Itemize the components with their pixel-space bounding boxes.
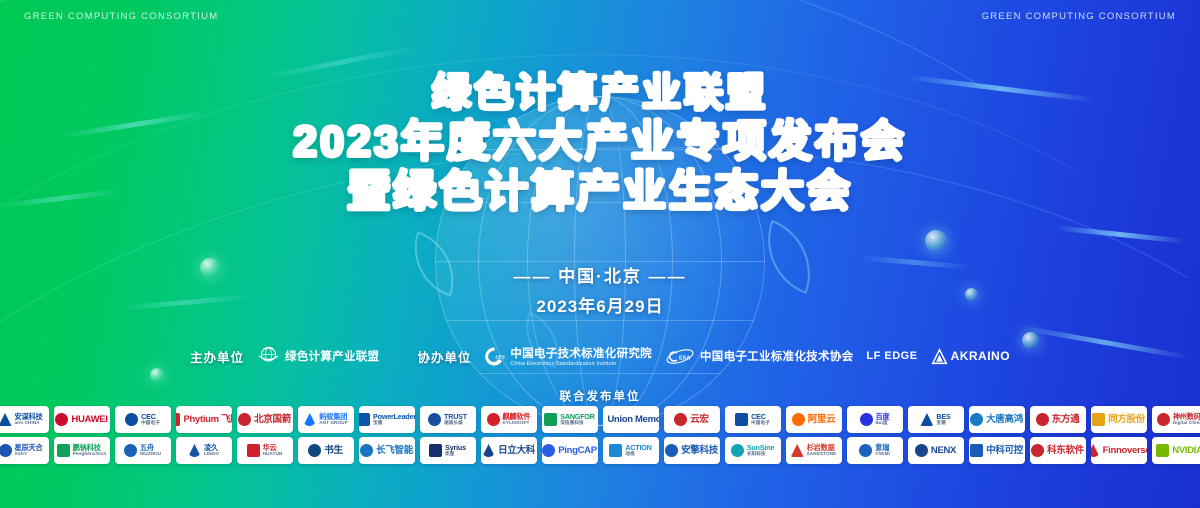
sponsor-name-secondary: 宝德 <box>373 421 414 426</box>
event-title: 绿色计算产业联盟 2023年度六大产业专项发布会 暨绿色计算产业生态大会 <box>0 72 1200 216</box>
sponsor-mark-icon <box>303 413 316 426</box>
sponsor-logo[interactable]: 云宏 <box>664 406 720 433</box>
kicker-left: GREEN COMPUTING CONSORTIUM <box>24 11 218 22</box>
sponsor-mark-icon <box>665 444 678 457</box>
sponsor-logo[interactable]: PingCAP <box>542 437 598 464</box>
sponsor-logo[interactable]: CEC中国电子 <box>115 406 171 433</box>
sponsor-mark-icon <box>1036 413 1049 426</box>
sponsor-mark-icon <box>791 444 804 457</box>
sponsor-mark-icon <box>0 413 12 426</box>
sponsor-logo[interactable]: CEC中国电子 <box>725 406 781 433</box>
coorganizer-logo-cesi: CESI 中国电子技术标准化研究院 China Electronics Stan… <box>484 345 652 367</box>
sponsor-name-primary: 大唐高鸿 <box>986 415 1023 425</box>
sponsor-mark-icon <box>487 413 500 426</box>
sponsor-mark-icon <box>860 413 873 426</box>
sponsor-mark-icon <box>674 413 687 426</box>
coorganizer-label: 协办单位 <box>417 347 471 366</box>
sponsor-logo[interactable]: 东方通 <box>1030 406 1086 433</box>
sponsor-logo[interactable]: SunSine长阳科技 <box>725 437 781 464</box>
sponsor-name-primary: 安擎科技 <box>681 446 718 456</box>
sponsor-mark-icon <box>1091 444 1100 457</box>
sponsor-logo[interactable]: BES宝德 <box>908 406 964 433</box>
sponsor-mark-icon <box>603 413 605 426</box>
sponsor-mark-icon <box>920 413 933 426</box>
sponsor-name-primary: NVIDIA <box>1172 446 1200 456</box>
sponsor-mark-icon <box>429 444 442 457</box>
joint-publishers-row: 安谋科技arm CHINAHUAWEICEC中国电子Phytium 飞腾北京国箭… <box>58 406 1142 433</box>
sponsor-logo[interactable]: Union Memory <box>603 406 659 433</box>
sponsor-mark-icon <box>57 444 70 457</box>
sponsor-name-secondary: WUZHOU <box>140 452 161 457</box>
sponsor-mark-icon <box>1092 413 1105 426</box>
esa-name: 中国电子工业标准化技术协会 <box>700 348 853 364</box>
svg-text:CESI: CESI <box>496 354 506 359</box>
joint-publishers-title: 联合发布单位 <box>0 388 1200 404</box>
sponsor-name-primary: 同方股份 <box>1108 415 1145 425</box>
svg-text:ESA: ESA <box>679 355 690 361</box>
sponsor-logo[interactable]: 科东软件 <box>1030 437 1086 464</box>
sponsor-logo[interactable]: 凌久LINGO <box>176 437 232 464</box>
sponsor-mark-icon <box>308 444 321 457</box>
sponsor-name-primary: 东方通 <box>1052 415 1080 425</box>
lf-edge-icon: LF EDGE <box>866 351 917 361</box>
akraino-name: AKRAINO <box>951 349 1011 363</box>
coorganizer-logo-akraino: AKRAINO <box>931 348 1011 365</box>
sponsor-logo[interactable]: 神州数码Digital China <box>1152 406 1200 433</box>
sponsor-name-primary: 中科可控 <box>986 446 1023 456</box>
event-subtitle: —— 中国·北京 —— 2023年6月29日 <box>0 262 1200 317</box>
sponsor-name-secondary: SANDSTONE <box>807 452 837 457</box>
sponsor-mark-icon <box>125 413 138 426</box>
sponsor-logo[interactable]: 书生 <box>298 437 354 464</box>
sponsor-mark-icon <box>542 444 555 457</box>
cesi-name: 中国电子技术标准化研究院 China Electronics Standardi… <box>510 345 652 367</box>
sponsor-name-secondary: 深信服科技 <box>560 421 595 426</box>
coorganizer-logo-esa: ESA 中国电子工业标准化技术协会 <box>665 348 853 365</box>
sponsor-mark-icon <box>859 444 872 457</box>
host-logo-opengcc: 绿色计算产业联盟 <box>257 346 379 367</box>
sponsor-name-primary: Finnoverse <box>1103 446 1147 456</box>
sponsor-logo[interactable]: 大唐高鸿 <box>969 406 1025 433</box>
sponsor-mark-icon <box>970 444 983 457</box>
sponsor-logo[interactable]: 北京国箭 <box>237 406 293 433</box>
coorganizer-logo-lfedge: LF EDGE <box>866 351 917 361</box>
sponsor-logo[interactable]: 长飞智能 <box>359 437 415 464</box>
sponsor-logo[interactable]: Phytium 飞腾 <box>176 406 232 433</box>
sponsor-name-primary: 云宏 <box>690 415 708 425</box>
sponsor-logo[interactable]: 同方股份 <box>1091 406 1147 433</box>
sponsor-mark-icon <box>482 444 495 457</box>
sponsor-name-secondary: 长阳科技 <box>747 452 774 457</box>
sponsor-name-primary: 书生 <box>324 446 342 456</box>
sponsor-name-secondary: XSKY <box>15 452 43 457</box>
sponsor-name-primary: 日立大科 <box>498 446 535 456</box>
sponsor-name-primary: 科东软件 <box>1047 446 1084 456</box>
sponsor-logo[interactable]: 日立大科 <box>481 437 537 464</box>
sponsor-name-secondary: 宝德 <box>936 421 950 426</box>
joint-publishers-grid: 安谋科技arm CHINAHUAWEICEC中国电子Phytium 飞腾北京国箭… <box>58 406 1142 464</box>
sponsor-name-primary: 阿里云 <box>808 415 836 425</box>
conference-banner: GREEN COMPUTING CONSORTIUM GREEN COMPUTI… <box>0 0 1200 508</box>
bokeh-dot-2 <box>150 368 164 382</box>
sponsor-mark-icon <box>124 444 137 457</box>
sponsor-mark-icon <box>915 444 928 457</box>
sponsor-mark-icon <box>360 444 373 457</box>
sponsor-logo[interactable]: SANGFOR深信服科技 <box>542 406 598 433</box>
sponsor-logo[interactable]: PowerLeader宝德 <box>359 406 415 433</box>
sponsor-name-secondary: KYLINSOFT <box>503 421 531 426</box>
sponsor-logo[interactable]: 中科可控 <box>969 437 1025 464</box>
sponsor-logo[interactable]: TRUST湖南长城 <box>420 406 476 433</box>
sponsor-logo[interactable]: NENX <box>908 437 964 464</box>
sponsor-logo[interactable]: 鹏钠科技PenghenaTech <box>54 437 110 464</box>
sponsor-name-primary: Phytium 飞腾 <box>183 415 231 425</box>
sponsor-name-primary: PingCAP <box>558 446 597 456</box>
akraino-icon <box>931 348 948 365</box>
sponsor-logo[interactable]: 蚂蚁集团ANT GROUP <box>298 406 354 433</box>
sponsor-mark-icon <box>188 444 201 457</box>
bokeh-dot-3 <box>925 230 947 252</box>
sponsor-name-secondary: YSEMI <box>875 452 890 457</box>
sponsor-name-secondary: LINGO <box>204 452 219 457</box>
sponsor-mark-icon <box>359 413 371 426</box>
esa-orbit-icon: ESA <box>665 348 695 365</box>
sponsor-logo[interactable]: 麒麟软件KYLINSOFT <box>481 406 537 433</box>
sponsor-logo[interactable]: Finnoverse <box>1091 437 1147 464</box>
sponsor-name-secondary: 湖南长城 <box>444 421 467 426</box>
sponsor-name-secondary: 中国电子 <box>751 421 770 426</box>
sponsor-mark-icon <box>55 413 68 426</box>
sponsor-logo[interactable]: NVIDIA <box>1152 437 1200 464</box>
sponsor-logo[interactable]: 杉岩数据SANDSTONE <box>786 437 842 464</box>
sponsor-logo[interactable]: ACTION动视 <box>603 437 659 464</box>
sponsor-mark-icon <box>544 413 557 426</box>
event-date: 2023年6月29日 <box>0 292 1200 317</box>
sponsor-logo[interactable]: 阿里云 <box>786 406 842 433</box>
sponsor-name-secondary: PenghenaTech <box>73 452 107 457</box>
sponsor-mark-icon <box>1157 413 1170 426</box>
sponsor-name-secondary: HUAYUN <box>263 452 283 457</box>
sponsor-logo[interactable]: Syrius炬星 <box>420 437 476 464</box>
sponsor-name-secondary: Bai度 <box>876 421 890 426</box>
sponsor-mark-icon <box>609 444 622 457</box>
sponsor-name-primary: Union Memory <box>607 415 658 425</box>
title-line-1: 绿色计算产业联盟 <box>0 72 1200 116</box>
sponsor-mark-icon <box>176 413 181 426</box>
sponsor-logo[interactable]: HUAWEI <box>54 406 110 433</box>
host-label: 主办单位 <box>190 347 244 366</box>
sponsor-mark-icon <box>792 413 805 426</box>
sponsor-mark-icon <box>735 413 748 426</box>
event-location: —— 中国·北京 —— <box>0 262 1200 287</box>
sponsor-mark-icon <box>428 413 441 426</box>
joint-publishers-row: 万里数据库GreatDB星辰天合XSKY鹏钠科技PenghenaTech五舟WU… <box>58 437 1142 464</box>
sponsor-name-secondary: arm CHINA <box>15 421 43 426</box>
sponsor-name-primary: 北京国箭 <box>254 415 291 425</box>
sponsor-mark-icon <box>731 444 744 457</box>
sponsor-logo[interactable]: 意瑞YSEMI <box>847 437 903 464</box>
sponsor-logo[interactable]: 华云HUAYUN <box>237 437 293 464</box>
sponsor-name-secondary: 炬星 <box>445 452 466 457</box>
sponsor-logo[interactable]: 五舟WUZHOU <box>115 437 171 464</box>
sponsor-name-primary: HUAWEI <box>71 415 107 425</box>
sponsor-logo[interactable]: 百度Bai度 <box>847 406 903 433</box>
sponsor-name-secondary: ANT GROUP <box>319 421 347 426</box>
sponsor-name-secondary: Digital China <box>1173 421 1200 426</box>
sponsor-logo[interactable]: 安擎科技 <box>664 437 720 464</box>
sponsor-logo[interactable]: 安谋科技arm CHINA <box>0 406 49 433</box>
organizers-row: 主办单位 绿色计算产业联盟 协办单位 CESI <box>0 345 1200 367</box>
cesi-c-icon: CESI <box>484 346 505 367</box>
kicker-right: GREEN COMPUTING CONSORTIUM <box>982 11 1176 22</box>
globe-leaf-icon <box>257 346 280 367</box>
sponsor-name-secondary: 中国电子 <box>141 421 160 426</box>
sponsor-mark-icon <box>970 413 983 426</box>
sponsor-mark-icon <box>247 444 260 457</box>
sponsor-logo[interactable]: 星辰天合XSKY <box>0 437 49 464</box>
sponsor-name-primary: 长飞智能 <box>376 446 413 456</box>
title-line-3: 暨绿色计算产业生态大会 <box>0 168 1200 216</box>
title-line-2: 2023年度六大产业专项发布会 <box>0 118 1200 166</box>
sponsor-name-primary: NENX <box>931 446 956 456</box>
sponsor-mark-icon <box>1156 444 1169 457</box>
sponsor-mark-icon <box>1031 444 1044 457</box>
sponsor-name-secondary: 动视 <box>625 452 651 457</box>
sponsor-mark-icon <box>0 444 12 457</box>
host-logo-name: 绿色计算产业联盟 <box>285 348 379 364</box>
sponsor-mark-icon <box>238 413 251 426</box>
